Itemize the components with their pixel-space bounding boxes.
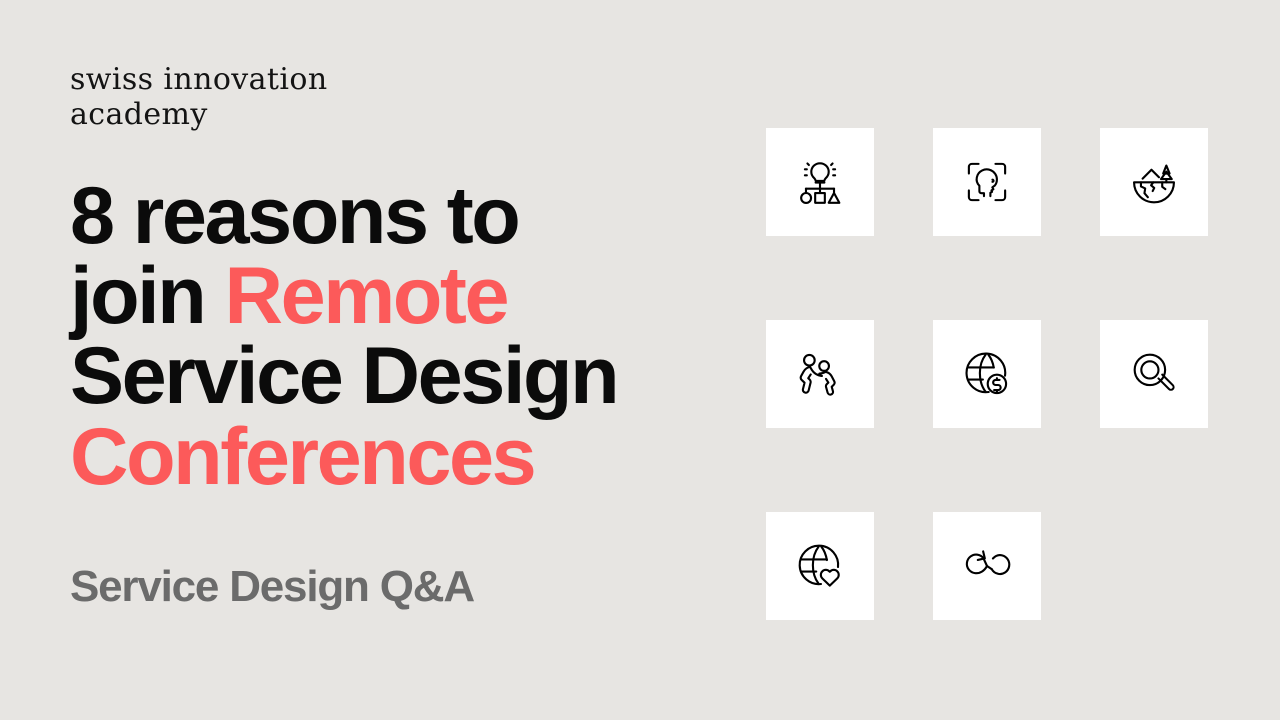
icon-tile-eco-globe[interactable] (1100, 128, 1208, 236)
headline-line-2-plain: join (70, 251, 224, 341)
global-heart-icon (791, 537, 849, 595)
headline-line-2: join Remote (70, 256, 710, 336)
icon-tile-global-heart[interactable] (766, 512, 874, 620)
page-title: 8 reasons to join Remote Service Design … (70, 176, 710, 497)
magnifier-icon (1125, 345, 1183, 403)
headline-line-1: 8 reasons to (70, 176, 710, 256)
infinity-loop-icon (958, 537, 1016, 595)
icon-tile-handshake-people[interactable] (766, 320, 874, 428)
idea-shapes-icon (791, 153, 849, 211)
headline-line-3: Service Design (70, 336, 710, 416)
global-finance-icon (958, 345, 1016, 403)
icon-tile-magnifier[interactable] (1100, 320, 1208, 428)
icon-tile-global-finance[interactable] (933, 320, 1041, 428)
icon-grid (766, 128, 1208, 620)
face-scan-icon (958, 153, 1016, 211)
brand-logo: swiss innovation academy (70, 62, 410, 133)
slide-canvas: swiss innovation academy 8 reasons to jo… (0, 0, 1280, 720)
subtitle: Service Design Q&A (70, 562, 474, 612)
headline-line-4: Conferences (70, 417, 710, 497)
eco-globe-icon (1125, 153, 1183, 211)
headline-line-2-accent: Remote (224, 251, 507, 341)
icon-tile-face-scan[interactable] (933, 128, 1041, 236)
handshake-people-icon (791, 345, 849, 403)
icon-tile-infinity-loop[interactable] (933, 512, 1041, 620)
logo-line-1: swiss innovation (70, 62, 410, 97)
logo-line-2: academy (70, 97, 410, 132)
icon-tile-idea-shapes[interactable] (766, 128, 874, 236)
